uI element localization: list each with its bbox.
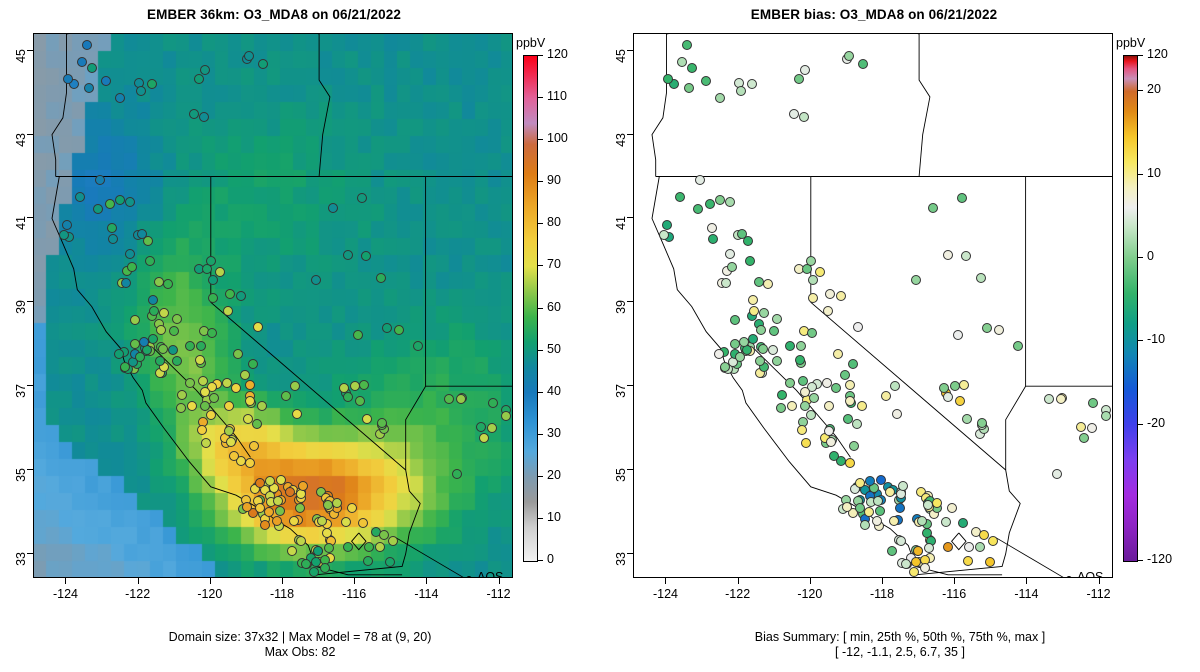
plot-area-bias: AQS: [633, 33, 1113, 578]
x-tick-label: -120: [790, 587, 830, 601]
monitor-site-marker: [130, 315, 140, 325]
monitor-site-marker: [807, 328, 817, 338]
monitor-site-marker: [1044, 394, 1054, 404]
monitor-site-marker: [273, 496, 283, 506]
monitor-site-marker: [845, 380, 855, 390]
x-tick-label: -114: [1006, 587, 1046, 601]
monitor-site-marker: [154, 277, 164, 287]
monitor-site-marker: [215, 267, 225, 277]
monitor-site-marker: [309, 567, 319, 577]
map-boundary-path: [1006, 177, 1026, 471]
monitor-site-marker: [787, 401, 797, 411]
monitor-site-marker: [341, 517, 351, 527]
monitor-site-marker: [959, 380, 969, 390]
panel-title-model: EMBER 36km: O3_MDA8 on 06/21/2022: [14, 7, 534, 22]
monitor-site-marker: [800, 401, 810, 411]
monitor-site-marker: [950, 381, 960, 391]
monitor-site-marker: [187, 401, 197, 411]
colorbar-tick-label: 120: [1147, 47, 1168, 61]
map-boundary-path: [811, 177, 1006, 471]
monitor-site-marker: [225, 289, 235, 299]
monitor-site-marker: [772, 356, 782, 366]
monitor-site-marker: [1101, 411, 1111, 421]
colorbar-tick-label: 40: [547, 384, 561, 398]
monitor-site-marker: [875, 506, 885, 516]
monitor-site-marker: [169, 326, 179, 336]
x-tick-label: -112: [1079, 587, 1119, 601]
monitor-site-marker: [242, 502, 252, 512]
monitor-site-marker: [720, 362, 730, 372]
monitor-site-marker: [769, 326, 779, 336]
monitor-site-marker: [206, 410, 216, 420]
monitor-site-marker: [800, 65, 810, 75]
monitor-site-marker: [994, 325, 1004, 335]
colorbar-tick: [537, 223, 543, 224]
y-tick-label: 33: [14, 552, 28, 592]
monitor-site-marker: [895, 503, 905, 513]
monitor-site-marker: [176, 403, 186, 413]
monitor-site-marker: [501, 411, 511, 421]
monitor-site-marker: [311, 557, 321, 567]
monitor-site-marker: [961, 251, 971, 261]
y-tick-label: 35: [614, 468, 628, 508]
x-tick-label: -120: [190, 587, 230, 601]
monitor-site-marker: [375, 542, 385, 552]
monitor-site-marker: [745, 256, 755, 266]
monitor-site-marker: [876, 475, 886, 485]
monitor-site-marker: [1087, 423, 1097, 433]
monitor-site-marker: [823, 306, 833, 316]
colorbar-tick-label: -120: [1147, 552, 1172, 566]
monitor-site-marker: [958, 518, 968, 528]
monitor-site-marker: [452, 469, 462, 479]
monitor-site-marker: [196, 341, 206, 351]
monitor-site-marker: [721, 278, 731, 288]
monitor-site-marker: [739, 337, 749, 347]
x-tick: [138, 578, 139, 584]
monitor-site-marker: [747, 79, 757, 89]
monitor-site-marker: [953, 330, 963, 340]
monitor-site-marker: [928, 203, 938, 213]
monitor-site-marker: [977, 418, 987, 428]
x-tick: [738, 578, 739, 584]
monitor-site-marker: [377, 418, 387, 428]
monitor-site-marker: [808, 275, 818, 285]
monitor-site-marker: [659, 230, 669, 240]
monitor-site-marker: [735, 352, 745, 362]
monitor-site-marker: [249, 441, 259, 451]
monitor-site-marker: [982, 323, 992, 333]
x-tick: [282, 578, 283, 584]
monitor-site-marker: [236, 291, 246, 301]
monitor-site-marker: [245, 458, 255, 468]
monitor-site-marker: [785, 341, 795, 351]
monitor-site-marker: [194, 74, 204, 84]
monitor-site-marker: [797, 425, 807, 435]
monitor-site-marker: [189, 109, 199, 119]
monitor-site-marker: [789, 109, 799, 119]
monitor-site-marker: [840, 370, 850, 380]
monitor-site-marker: [456, 394, 466, 404]
monitor-site-marker: [292, 409, 302, 419]
monitor-site-marker: [957, 193, 967, 203]
monitor-site-marker: [226, 437, 236, 447]
monitor-site-marker: [101, 76, 111, 86]
monitor-site-marker: [364, 542, 374, 552]
x-tick: [665, 578, 666, 584]
colorbar-tick: [1137, 340, 1143, 341]
monitor-site-marker: [749, 306, 759, 316]
monitor-site-marker: [149, 306, 159, 316]
colorbar-tick: [1137, 174, 1143, 175]
aqs-legend-dot: [466, 576, 472, 578]
monitor-site-marker: [1013, 341, 1023, 351]
y-tick-label: 37: [14, 384, 28, 424]
monitor-site-marker: [272, 516, 282, 526]
monitor-site-marker: [252, 419, 262, 429]
caption-model-line2: Max Obs: 82: [20, 645, 580, 660]
x-tick: [882, 578, 883, 584]
aqs-legend-label: AQS: [477, 570, 503, 578]
monitor-site-marker: [941, 517, 951, 527]
monitor-site-marker: [857, 401, 867, 411]
monitor-site-marker: [163, 279, 173, 289]
monitor-site-marker: [898, 481, 908, 491]
monitor-site-marker: [794, 74, 804, 84]
monitor-site-marker: [808, 293, 818, 303]
monitor-site-marker: [727, 262, 737, 272]
monitor-site-marker: [872, 516, 882, 526]
monitor-site-marker: [799, 112, 809, 122]
monitor-site-marker: [201, 438, 211, 448]
caption-bias-line1: Bias Summary: [ min, 25th %, 50th %, 75t…: [620, 630, 1180, 645]
colorbar-tick-label: 20: [1147, 82, 1161, 96]
monitor-site-marker: [759, 308, 769, 318]
colorbar-tick-label: 90: [547, 173, 561, 187]
monitor-site-marker: [758, 344, 768, 354]
colorbar-tick: [537, 265, 543, 266]
monitor-site-marker: [394, 325, 404, 335]
monitor-site-marker: [355, 396, 365, 406]
monitor-site-marker: [1079, 433, 1089, 443]
monitor-site-marker: [1052, 469, 1062, 479]
monitor-site-marker: [687, 63, 697, 73]
monitor-site-marker: [168, 345, 178, 355]
monitor-site-marker: [287, 546, 297, 556]
monitor-site-marker: [298, 481, 308, 491]
colorbar-tick: [537, 308, 543, 309]
monitor-site-marker: [809, 393, 819, 403]
colorbar-title-model: ppbV: [516, 36, 545, 50]
monitor-site-marker: [963, 556, 973, 566]
monitor-site-marker: [682, 40, 692, 50]
colorbar-tick-label: -20: [1147, 416, 1165, 430]
monitor-site-marker: [763, 279, 773, 289]
x-tick-label: -116: [334, 587, 374, 601]
panel-bias: EMBER bias: O3_MDA8 on 06/21/2022 AQS -1…: [600, 0, 1200, 672]
monitor-site-marker: [796, 341, 806, 351]
monitor-site-marker: [281, 391, 291, 401]
monitor-site-marker: [120, 362, 130, 372]
colorbar-tick: [1137, 424, 1143, 425]
aqs-legend-label-bias: AQS: [1077, 570, 1103, 578]
monitor-site-marker: [714, 349, 724, 359]
monitor-site-marker: [776, 403, 786, 413]
monitor-site-marker: [754, 277, 764, 287]
y-tick-label: 43: [614, 133, 628, 173]
y-tick-label: 37: [614, 384, 628, 424]
aqs-legend-dot-bias: [1066, 576, 1072, 578]
y-tick-label: 41: [14, 216, 28, 256]
monitor-site-marker: [955, 396, 965, 406]
monitor-site-marker: [909, 567, 919, 577]
monitor-site-marker: [890, 381, 900, 391]
x-tick: [499, 578, 500, 584]
monitor-site-marker: [358, 518, 368, 528]
monitor-site-marker: [853, 322, 863, 332]
aqs-leader-line: [995, 537, 1066, 578]
monitor-site-marker: [359, 380, 369, 390]
monitor-site-marker: [195, 355, 205, 365]
monitor-site-marker: [748, 295, 758, 305]
colorbar-tick: [537, 181, 543, 182]
colorbar-tick: [537, 518, 543, 519]
monitor-site-marker: [185, 341, 195, 351]
monitor-site-marker: [748, 334, 758, 344]
monitor-site-marker: [924, 543, 934, 553]
colorbar-bias: [1123, 55, 1138, 562]
monitor-site-marker: [200, 387, 210, 397]
monitor-site-marker: [209, 393, 219, 403]
monitor-site-marker: [257, 401, 267, 411]
colorbar-tick-label: 30: [547, 426, 561, 440]
monitor-site-marker: [701, 76, 711, 86]
monitor-site-marker: [885, 487, 895, 497]
colorbar-tick-label: 80: [547, 215, 561, 229]
colorbar-tick-label: -10: [1147, 332, 1165, 346]
monitor-site-marker: [677, 57, 687, 67]
monitor-site-marker: [892, 409, 902, 419]
monitor-site-marker: [842, 502, 852, 512]
monitor-site-marker: [207, 328, 217, 338]
monitor-site-marker: [715, 195, 725, 205]
colorbar-tick-label: 60: [547, 300, 561, 314]
monitor-site-marker: [77, 57, 87, 67]
colorbar-tick-label: 20: [547, 468, 561, 482]
monitor-site-marker: [964, 542, 974, 552]
monitor-site-marker: [148, 334, 158, 344]
colorbar-tick: [537, 139, 543, 140]
y-tick-label: 43: [14, 133, 28, 173]
monitor-site-marker: [295, 503, 305, 513]
monitor-site-marker: [130, 339, 140, 349]
monitor-site-marker: [920, 563, 930, 573]
monitor-site-marker: [93, 204, 103, 214]
x-tick-label: -114: [406, 587, 446, 601]
x-tick: [354, 578, 355, 584]
x-tick-label: -118: [862, 587, 902, 601]
monitor-site-marker: [785, 378, 795, 388]
monitor-site-marker: [887, 546, 897, 556]
colorbar-tick: [537, 55, 543, 56]
monitor-site-marker: [108, 234, 118, 244]
x-tick: [426, 578, 427, 584]
colorbar-tick-label: 10: [547, 510, 561, 524]
colorbar-tick: [1137, 55, 1143, 56]
monitor-site-marker: [388, 536, 398, 546]
monitor-site-marker: [63, 74, 73, 84]
monitor-site-marker: [806, 256, 816, 266]
monitor-site-marker: [75, 192, 85, 202]
x-tick: [1026, 578, 1027, 584]
figure-root: EMBER 36km: O3_MDA8 on 06/21/2022 AQS -1…: [0, 0, 1200, 672]
monitor-site-marker: [1088, 398, 1098, 408]
colorbar-tick-label: 50: [547, 342, 561, 356]
monitor-site-marker: [115, 195, 125, 205]
monitor-site-marker: [947, 503, 957, 513]
colorbar-title-bias: ppbV: [1116, 36, 1145, 50]
x-tick-label: -118: [262, 587, 302, 601]
colorbar-tick-label: 110: [547, 89, 567, 103]
colorbar-tick: [1137, 90, 1143, 91]
colorbar-tick: [537, 350, 543, 351]
monitor-site-marker: [795, 355, 805, 365]
monitor-site-marker: [896, 536, 906, 546]
monitor-site-marker: [985, 557, 995, 567]
monitor-site-marker: [737, 229, 747, 239]
x-tick: [65, 578, 66, 584]
panel-title-bias: EMBER bias: O3_MDA8 on 06/21/2022: [614, 7, 1134, 22]
monitor-site-marker: [768, 345, 778, 355]
y-tick-label: 41: [614, 216, 628, 256]
monitor-site-marker: [357, 193, 367, 203]
monitor-site-marker: [881, 391, 891, 401]
monitor-site-marker: [139, 337, 149, 347]
monitor-site-marker: [1076, 422, 1086, 432]
colorbar-tick-label: 70: [547, 257, 561, 271]
monitor-site-marker: [276, 475, 286, 485]
monitor-site-marker: [833, 349, 843, 359]
monitor-site-marker: [695, 175, 705, 185]
monitor-site-marker: [777, 390, 787, 400]
monitor-site-marker: [285, 487, 295, 497]
map-boundary-path: [919, 34, 930, 177]
y-tick-label: 35: [14, 468, 28, 508]
monitor-site-marker: [975, 542, 985, 552]
monitor-site-marker: [824, 401, 834, 411]
monitor-site-marker: [705, 199, 715, 209]
monitor-site-marker: [825, 289, 835, 299]
monitor-site-marker: [730, 339, 740, 349]
caption-model-line1: Domain size: 37x32 | Max Model = 78 at (…: [20, 630, 580, 645]
x-tick-label: -116: [934, 587, 974, 601]
monitor-site-marker: [185, 378, 195, 388]
monitor-site-marker: [59, 230, 69, 240]
monitor-site-marker: [229, 451, 239, 461]
x-tick: [954, 578, 955, 584]
monitor-site-marker: [736, 86, 746, 96]
x-tick: [810, 578, 811, 584]
x-tick-label: -124: [645, 587, 685, 601]
monitor-site-marker: [848, 359, 858, 369]
colorbar-tick-label: 10: [1147, 166, 1161, 180]
monitor-site-marker: [831, 383, 841, 393]
monitor-site-marker: [245, 380, 255, 390]
monitor-site-marker: [156, 325, 166, 335]
monitor-site-marker: [137, 229, 147, 239]
colorbar-tick: [537, 434, 543, 435]
monitor-site-marker: [943, 542, 953, 552]
colorbar-tick: [537, 97, 543, 98]
colorbar-tick-label: 100: [547, 131, 568, 145]
monitor-site-marker: [806, 410, 816, 420]
monitor-site-marker: [836, 291, 846, 301]
panel-model: EMBER 36km: O3_MDA8 on 06/21/2022 AQS -1…: [0, 0, 600, 672]
x-tick: [1099, 578, 1100, 584]
monitor-site-marker: [911, 275, 921, 285]
monitor-site-marker: [707, 223, 717, 233]
y-tick-label: 39: [614, 300, 628, 340]
colorbar-tick: [537, 560, 543, 561]
monitor-site-marker: [730, 315, 740, 325]
monitor-site-marker: [829, 451, 839, 461]
monitor-site-marker: [343, 392, 353, 402]
map-boundary-path: [652, 34, 667, 177]
caption-bias-line2: [ -12, -1.1, 2.5, 6.7, 35 ]: [620, 645, 1180, 660]
monitor-site-marker: [756, 325, 766, 335]
monitor-site-marker: [858, 59, 868, 69]
monitor-site-marker: [844, 51, 854, 61]
colorbar-tick: [1137, 257, 1143, 258]
monitor-site-marker: [233, 349, 243, 359]
monitor-site-marker: [693, 204, 703, 214]
monitor-site-marker: [662, 220, 672, 230]
monitor-site-marker: [772, 314, 782, 324]
colorbar-tick: [1137, 560, 1143, 561]
monitor-site-marker: [684, 83, 694, 93]
monitor-site-marker: [197, 425, 207, 435]
y-tick-label: 45: [14, 49, 28, 89]
colorbar-tick: [537, 476, 543, 477]
monitor-site-marker: [84, 83, 94, 93]
monitor-site-marker: [715, 93, 725, 103]
monitor-site-marker: [976, 273, 986, 283]
monitor-site-marker: [725, 249, 735, 259]
y-tick-label: 33: [614, 552, 628, 592]
monitor-site-marker: [943, 250, 953, 260]
plot-area-model: AQS: [33, 33, 513, 578]
monitor-site-marker: [911, 557, 921, 567]
monitor-site-marker: [121, 278, 131, 288]
monitor-site-marker: [200, 401, 210, 411]
colorbar-tick: [537, 392, 543, 393]
monitor-site-marker: [260, 520, 270, 530]
y-tick-label: 39: [14, 300, 28, 340]
monitor-site-marker: [815, 267, 825, 277]
monitor-site-marker: [860, 520, 870, 530]
x-tick-label: -122: [718, 587, 758, 601]
monitor-site-marker: [663, 74, 673, 84]
colorbar-tick-label: 120: [547, 47, 568, 61]
x-tick-label: -122: [118, 587, 158, 601]
monitor-site-marker: [852, 419, 862, 429]
monitor-site-marker: [962, 414, 972, 424]
monitor-site-marker: [845, 458, 855, 468]
x-tick: [210, 578, 211, 584]
monitor-site-marker: [382, 323, 392, 333]
monitor-site-marker: [988, 536, 998, 546]
x-tick-label: -112: [479, 587, 519, 601]
